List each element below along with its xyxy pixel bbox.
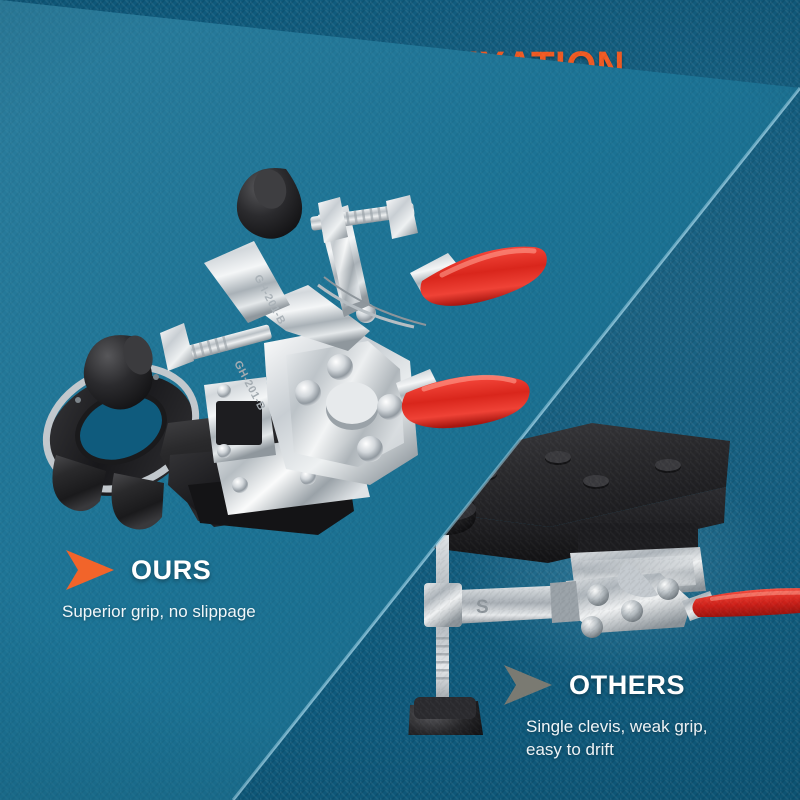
callout-ours-head: OURS	[62, 548, 256, 592]
callout-others-description: Single clevis, weak grip, easy to drift	[526, 716, 707, 761]
callout-others-label: OTHERS	[569, 670, 685, 701]
callout-ours: OURS Superior grip, no slippage	[62, 548, 256, 624]
callout-others: OTHERS Single clevis, weak grip, easy to…	[500, 663, 707, 761]
product-image-ours-foreground	[18, 155, 608, 555]
product-marking-others: S	[476, 597, 489, 618]
arrow-right-triangle-icon	[62, 548, 118, 592]
arrow-right-triangle-icon	[500, 663, 556, 707]
callout-ours-description: Superior grip, no slippage	[62, 601, 256, 624]
handle-grip-others	[682, 588, 800, 621]
callout-ours-label: OURS	[131, 555, 211, 586]
infographic-canvas: DUAL CLAMP FIXATION Allow precise positi…	[0, 0, 800, 800]
callout-others-head: OTHERS	[500, 663, 707, 707]
